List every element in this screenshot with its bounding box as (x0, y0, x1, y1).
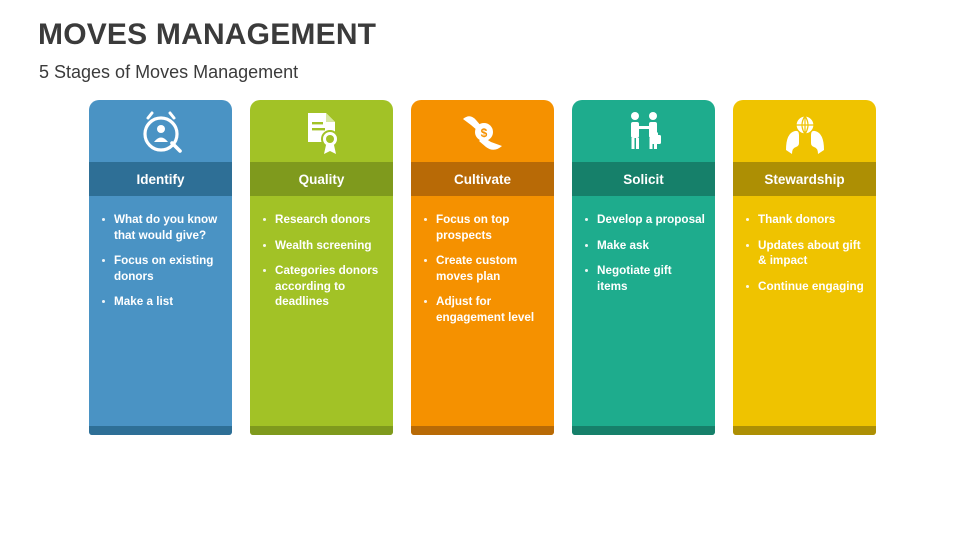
target-person-icon (138, 110, 184, 154)
stage-body: Identify What do you know that would giv… (89, 100, 232, 435)
icon-zone (733, 100, 876, 162)
icon-zone (572, 100, 715, 162)
slide: MOVES MANAGEMENT 5 Stages of Moves Manag… (0, 0, 960, 540)
stage-band: Identify (89, 162, 232, 196)
list-item: Negotiate gift items (578, 263, 705, 294)
list-item: Focus on existing donors (95, 253, 222, 284)
page-title: MOVES MANAGEMENT (38, 18, 376, 52)
hands-globe-icon (782, 110, 828, 154)
stage-label: Cultivate (411, 162, 554, 196)
stage-band: Solicit (572, 162, 715, 196)
list-item: Focus on top prospects (417, 212, 544, 243)
stage-column-stewardship[interactable]: Stewardship Thank donors Updates about g… (733, 100, 876, 435)
stage-foot (572, 426, 715, 435)
stage-foot (89, 426, 232, 435)
list-item: Create custom moves plan (417, 253, 544, 284)
icon-zone (89, 100, 232, 162)
stage-bullets: Thank donors Updates about gift & impact… (733, 196, 876, 294)
stage-column-identify[interactable]: Identify What do you know that would giv… (89, 100, 232, 435)
stage-body: Stewardship Thank donors Updates about g… (733, 100, 876, 435)
stage-bullets: Develop a proposal Make ask Negotiate gi… (572, 196, 715, 294)
stage-column-cultivate[interactable]: $ Cultivate Focus on top prospects Creat… (411, 100, 554, 435)
list-item: Thank donors (739, 212, 866, 228)
stage-foot (250, 426, 393, 435)
list-item: Updates about gift & impact (739, 238, 866, 269)
stage-band: Cultivate (411, 162, 554, 196)
list-item: Categories donors according to deadlines (256, 263, 383, 310)
stage-body: $ Cultivate Focus on top prospects Creat… (411, 100, 554, 435)
stage-label: Stewardship (733, 162, 876, 196)
document-award-icon (301, 110, 343, 154)
stage-column-solicit[interactable]: Solicit Develop a proposal Make ask Nego… (572, 100, 715, 435)
list-item: Make ask (578, 238, 705, 254)
stage-band: Quality (250, 162, 393, 196)
hand-coin-icon: $ (460, 110, 506, 154)
list-item: Wealth screening (256, 238, 383, 254)
stage-label: Identify (89, 162, 232, 196)
stage-body: Solicit Develop a proposal Make ask Nego… (572, 100, 715, 435)
stage-foot (733, 426, 876, 435)
two-people-handshake-icon (622, 110, 666, 154)
page-subtitle: 5 Stages of Moves Management (39, 62, 298, 83)
stage-foot (411, 426, 554, 435)
icon-zone (250, 100, 393, 162)
list-item: Make a list (95, 294, 222, 310)
list-item: Adjust for engagement level (417, 294, 544, 325)
stage-bullets: Research donors Wealth screening Categor… (250, 196, 393, 310)
list-item: What do you know that would give? (95, 212, 222, 243)
stage-label: Quality (250, 162, 393, 196)
icon-zone: $ (411, 100, 554, 162)
list-item: Research donors (256, 212, 383, 228)
list-item: Continue engaging (739, 279, 866, 295)
stage-bullets: Focus on top prospects Create custom mov… (411, 196, 554, 325)
stage-body: Quality Research donors Wealth screening… (250, 100, 393, 435)
stage-label: Solicit (572, 162, 715, 196)
list-item: Develop a proposal (578, 212, 705, 228)
stage-columns: Identify What do you know that would giv… (89, 100, 879, 445)
stage-bullets: What do you know that would give? Focus … (89, 196, 232, 310)
stage-band: Stewardship (733, 162, 876, 196)
stage-column-quality[interactable]: Quality Research donors Wealth screening… (250, 100, 393, 435)
